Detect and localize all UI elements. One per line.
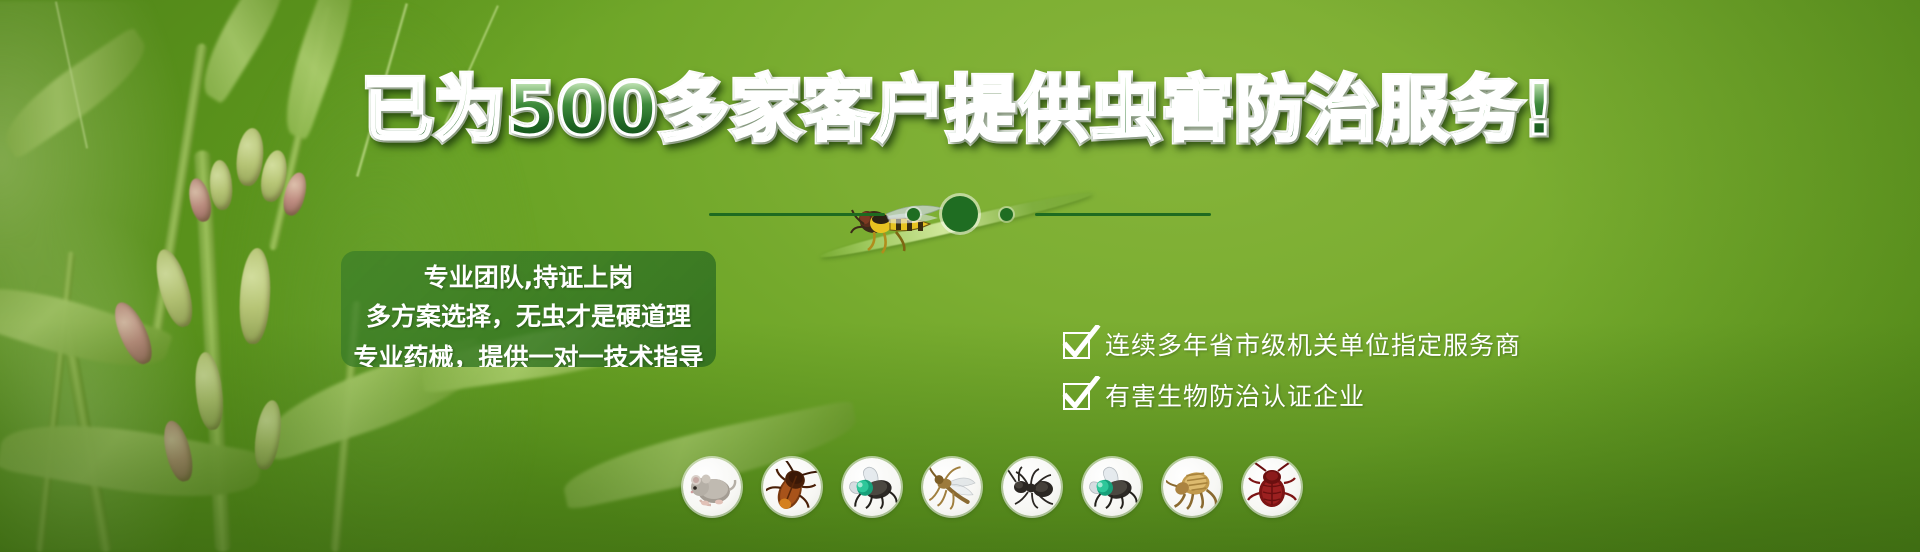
flea-icon[interactable] — [1163, 458, 1221, 516]
fly-icon[interactable] — [843, 458, 901, 516]
bedbug-icon[interactable] — [1243, 458, 1301, 516]
selling-point-line-3: 专业药械，提供一对一技术指导 — [341, 338, 716, 367]
divider-dot-small-2 — [1000, 208, 1013, 221]
credential-label: 有害生物防治认证企业 — [1105, 383, 1365, 410]
cockroach-icon[interactable] — [763, 458, 821, 516]
checkbox-checked-icon — [1063, 332, 1090, 359]
selling-point-line-1: 专业团队,持证上岗 — [341, 260, 716, 296]
divider-rule-left — [709, 213, 885, 216]
credential-label: 连续多年省市级机关单位指定服务商 — [1105, 332, 1521, 359]
ant-icon[interactable] — [1003, 458, 1061, 516]
divider-dot-large — [942, 196, 978, 232]
decorative-divider — [0, 196, 1920, 232]
list-item: 有害生物防治认证企业 — [1063, 383, 1521, 410]
rodent-icon[interactable] — [683, 458, 741, 516]
credentials-list: 连续多年省市级机关单位指定服务商 有害生物防治认证企业 — [1063, 332, 1521, 410]
headline-group: 已为500多家客户提供虫害防治服务! 已为500多家客户提供虫害防治服务! — [0, 0, 1920, 200]
selling-points-panel: 专业团队,持证上岗 多方案选择，无虫才是硬道理 专业药械，提供一对一技术指导 — [341, 251, 716, 367]
promo-banner: 已为500多家客户提供虫害防治服务! 已为500多家客户提供虫害防治服务! 专业… — [0, 0, 1920, 552]
divider-rule-right — [1035, 213, 1211, 216]
checkbox-checked-icon — [1063, 383, 1090, 410]
mosquito-icon[interactable] — [923, 458, 981, 516]
page-title: 已为500多家客户提供虫害防治服务! — [0, 72, 1920, 148]
blowfly-icon[interactable] — [1083, 458, 1141, 516]
divider-dot-small — [907, 208, 920, 221]
selling-point-line-2: 多方案选择，无虫才是硬道理 — [341, 296, 716, 338]
list-item: 连续多年省市级机关单位指定服务商 — [1063, 332, 1521, 359]
pest-type-strip — [683, 458, 1301, 516]
